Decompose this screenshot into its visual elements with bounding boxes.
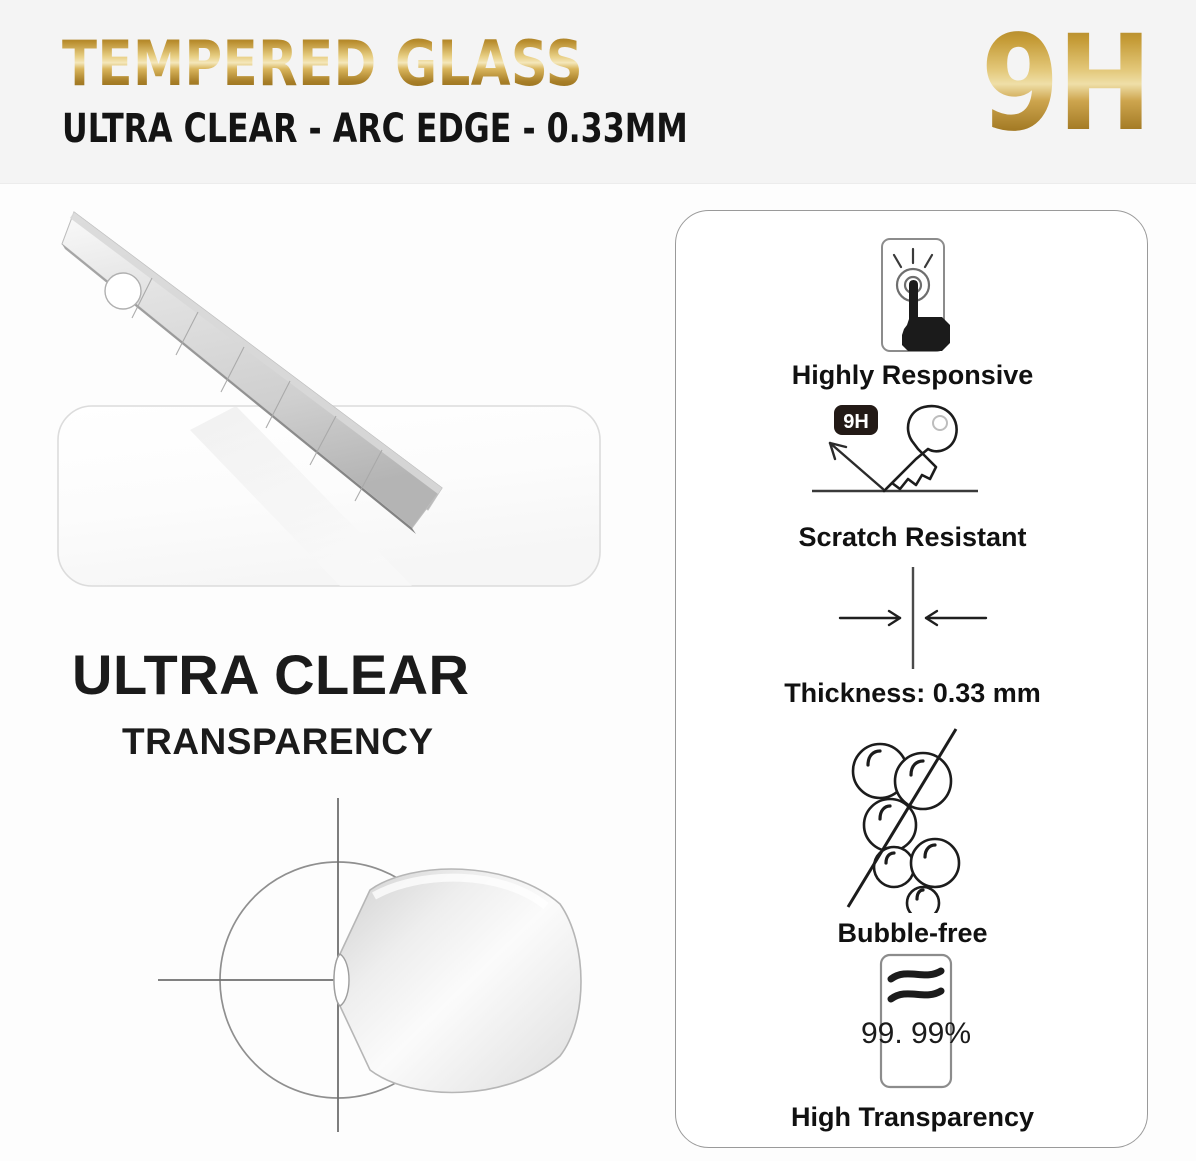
ultra-clear-heading: ULTRA CLEAR (72, 646, 469, 704)
feature-panel: Highly Responsive 9H (675, 210, 1148, 1148)
page-title: TEMPERED GLASS (62, 33, 583, 95)
bubble-group (853, 744, 959, 913)
transparency-percent-value: 99. 99% (860, 1017, 970, 1050)
arrow-left-to-line (840, 611, 900, 625)
key-shape (884, 406, 957, 491)
feature-scratch-resistant: 9H Scratch Resistant (676, 399, 1149, 553)
feature-label: Highly Responsive (676, 359, 1149, 391)
screen-clarity-icon: 99. 99% (833, 951, 993, 1097)
feature-bubble-free: Bubble-free (676, 723, 1149, 949)
feature-label: High Transparency (676, 1101, 1149, 1133)
infographic-page: TEMPERED GLASS ULTRA CLEAR - ARC EDGE - … (0, 0, 1196, 1161)
blade-mount-hole (105, 273, 141, 309)
arrow-right-to-line (926, 611, 986, 625)
feature-label: Scratch Resistant (676, 521, 1149, 553)
feature-label: Bubble-free (676, 917, 1149, 949)
utility-blade-over-glass-figure (40, 198, 640, 618)
key-scratch-icon: 9H (788, 399, 1038, 517)
hardness-badge-9h: 9H (981, 14, 1150, 154)
thickness-arrows-icon (788, 563, 1038, 673)
page-subtitle: ULTRA CLEAR - ARC EDGE - 0.33MM (62, 108, 688, 150)
phone-touch-icon (838, 233, 988, 355)
feature-thickness: Thickness: 0.33 mm (676, 563, 1149, 709)
left-column: ULTRA CLEAR TRANSPARENCY (0, 184, 660, 1161)
bubbles-crossed-icon (818, 723, 1008, 913)
feature-label: Thickness: 0.33 mm (676, 677, 1149, 709)
feature-high-transparency: 99. 99% High Transparency (676, 951, 1149, 1133)
feature-highly-responsive: Highly Responsive (676, 233, 1149, 391)
hardness-chip-label: 9H (843, 411, 869, 433)
deflection-arrow (830, 443, 883, 489)
transparency-subheading: TRANSPARENCY (122, 722, 434, 762)
hardness-chip: 9H (834, 405, 878, 435)
arc-edge-figure (40, 784, 640, 1134)
